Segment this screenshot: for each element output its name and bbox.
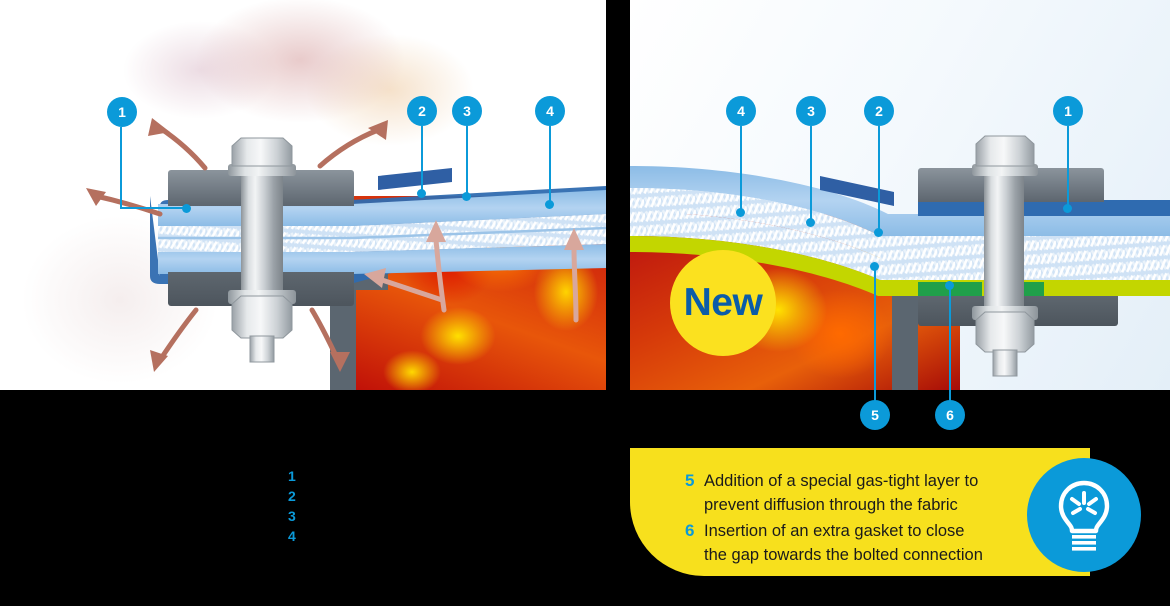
- improvement-number: 6: [685, 519, 704, 543]
- marker-dot-2: [417, 189, 426, 198]
- marker-lead-2-new: [878, 126, 880, 230]
- marker-circle-2-new[interactable]: 2: [864, 96, 894, 126]
- marker-circle-5[interactable]: 5: [860, 400, 890, 430]
- marker-circle-4-new[interactable]: 4: [726, 96, 756, 126]
- marker-circle-6[interactable]: 6: [935, 400, 965, 430]
- marker-lead-3: [466, 126, 468, 194]
- marker-dot-6: [945, 281, 954, 290]
- improvement-number: 5: [685, 469, 704, 493]
- legend-number: 3: [288, 508, 302, 525]
- legend-number: 1: [288, 468, 302, 485]
- marker-dot-5: [870, 262, 879, 271]
- legend-item: 3: [288, 508, 618, 525]
- improvement-line-1: Insertion of an extra gasket to close: [704, 522, 964, 540]
- new-badge: New: [670, 250, 776, 356]
- improvement-line-2: the gap towards the bolted connection: [704, 546, 983, 564]
- panel-improved-design: New 4 3 2 1: [630, 0, 1170, 390]
- marker-lead-1: [120, 127, 122, 209]
- legend-item: 2: [288, 488, 618, 505]
- illustration-stage: 1 2 3 4: [0, 0, 1170, 606]
- improvements-list: 5 Addition of a special gas-tight layer …: [685, 469, 1055, 569]
- marker-dot-2-new: [874, 228, 883, 237]
- marker-lead-1-new: [1067, 126, 1069, 208]
- diffusion-arrows-old: [0, 0, 606, 390]
- improvement-text: Insertion of an extra gasket to close th…: [704, 519, 983, 567]
- legend-item: 1: [288, 468, 618, 485]
- marker-lead-5: [874, 266, 876, 406]
- lightbulb-badge: [1027, 458, 1141, 572]
- marker-lead-6: [949, 286, 951, 406]
- marker-lead-2: [421, 126, 423, 192]
- improvement-line-1: Addition of a special gas-tight layer to: [704, 472, 978, 490]
- marker-lead-1-h: [120, 207, 186, 209]
- legend-item: 4: [288, 528, 618, 545]
- marker-lead-3-new: [810, 126, 812, 220]
- marker-circle-3-new[interactable]: 3: [796, 96, 826, 126]
- improvements-callout-box: 5 Addition of a special gas-tight layer …: [630, 448, 1090, 576]
- lightbulb-icon: [1051, 479, 1117, 551]
- improvement-item-5: 5 Addition of a special gas-tight layer …: [685, 469, 1055, 517]
- marker-dot-3-new: [806, 218, 815, 227]
- legend-number: 2: [288, 488, 302, 505]
- marker-dot-3: [462, 192, 471, 201]
- marker-lead-4: [549, 126, 551, 202]
- improvement-line-2: prevent diffusion through the fabric: [704, 496, 958, 514]
- improvement-text: Addition of a special gas-tight layer to…: [704, 469, 978, 517]
- legend-number: 4: [288, 528, 302, 545]
- marker-lead-4-new: [740, 126, 742, 210]
- marker-circle-3[interactable]: 3: [452, 96, 482, 126]
- marker-circle-1[interactable]: 1: [107, 97, 137, 127]
- marker-dot-1-new: [1063, 204, 1072, 213]
- legend-conventional: 1 2 3 4: [288, 468, 618, 548]
- marker-dot-4-new: [736, 208, 745, 217]
- improvement-item-6: 6 Insertion of an extra gasket to close …: [685, 519, 1055, 567]
- marker-dot-1: [182, 204, 191, 213]
- marker-circle-2[interactable]: 2: [407, 96, 437, 126]
- panel-conventional-design: 1 2 3 4: [0, 0, 606, 390]
- marker-circle-1-new[interactable]: 1: [1053, 96, 1083, 126]
- marker-circle-4[interactable]: 4: [535, 96, 565, 126]
- marker-dot-4: [545, 200, 554, 209]
